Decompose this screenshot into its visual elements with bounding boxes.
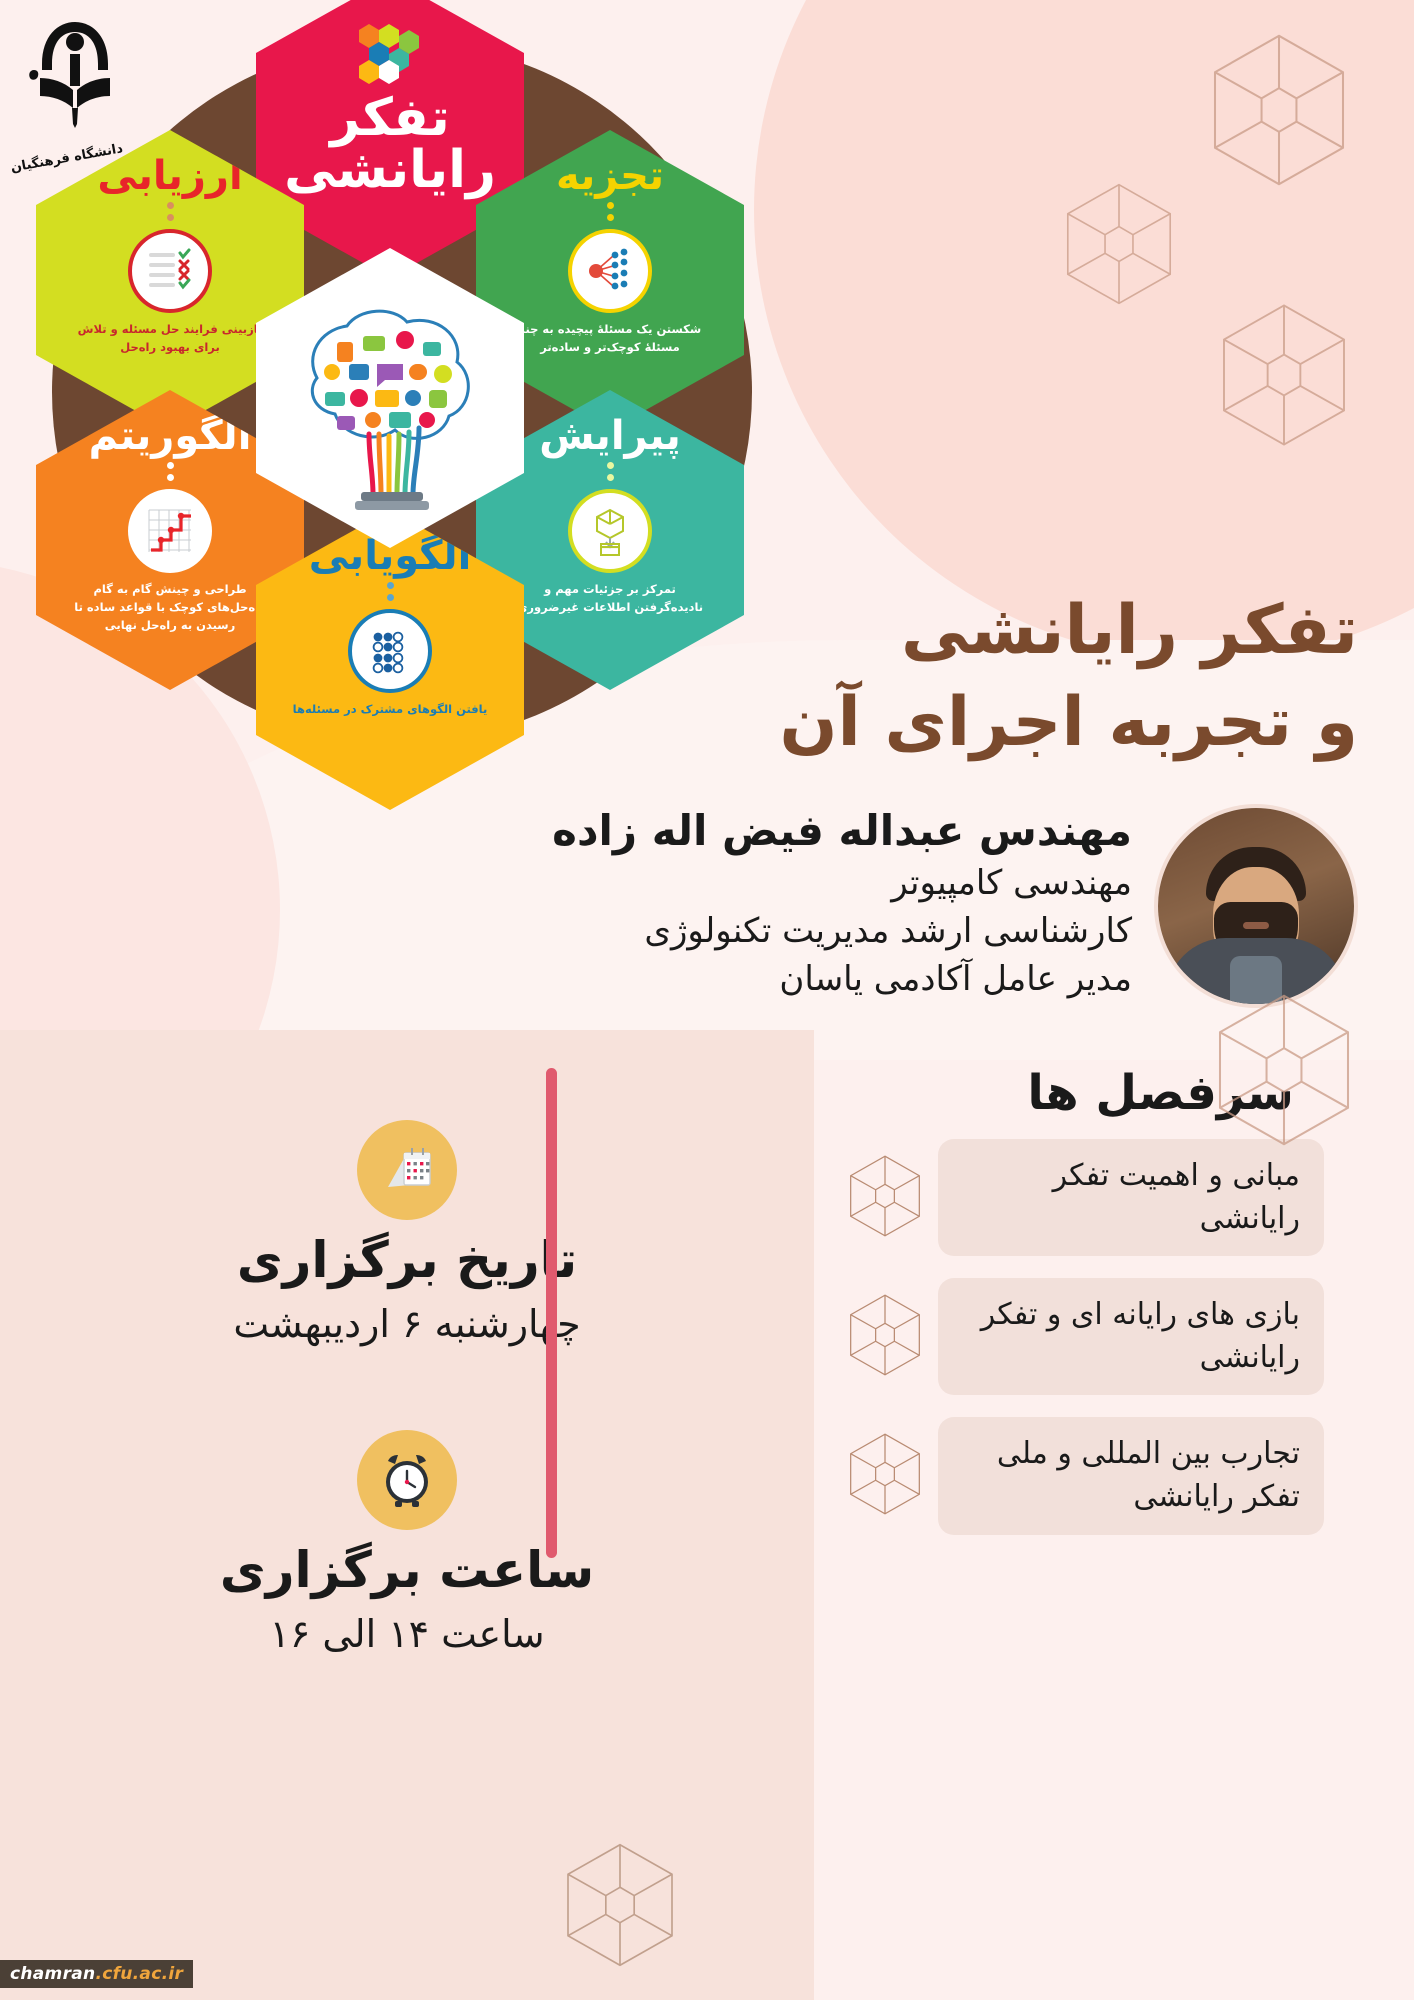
event-time-value: ساعت ۱۴ الی ۱۶ [0, 1610, 814, 1659]
event-time-label: ساعت برگزاری [0, 1540, 814, 1600]
list-item[interactable]: تجارب بین المللی و ملی تفکر رایانشی [844, 1417, 1324, 1534]
decorative-wire-hexagon-2 [1060, 180, 1178, 308]
decorative-wire-hexagon-5 [560, 1840, 680, 1970]
connector-dots [167, 202, 174, 221]
decorative-wire-hexagon-4 [1209, 990, 1359, 1150]
pattern-dots-icon [348, 609, 432, 693]
section-divider [546, 1068, 557, 1558]
topic-label: بازی های رایانه ای و تفکر رایانشی [938, 1278, 1324, 1395]
alarm-clock-icon [357, 1430, 457, 1530]
connector-dots [607, 462, 614, 481]
hexagon-title: پیرایش [539, 416, 681, 456]
network-nodes-icon [568, 229, 652, 313]
speaker-details: مهندس عبداله فیض اله زاده مهندسی کامپیوت… [552, 800, 1132, 1003]
page-title-line-1: تفکر رایانشی [638, 585, 1358, 677]
brain-tree-icon [275, 298, 505, 528]
hex-outline-icon [844, 1292, 924, 1382]
event-time-block: ساعت برگزاری ساعت ۱۴ الی ۱۶ [0, 1430, 814, 1659]
hexagon-description: طراحی و چینش گام به گام راه‌حل‌های کوچک … [70, 581, 270, 634]
avatar-mouth [1243, 922, 1269, 929]
hexagon-description: بازبینی فرایند حل مسئله و تلاش برای بهبو… [70, 321, 270, 357]
connector-dots [387, 582, 394, 601]
topic-label: مبانی و اهمیت تفکر رایانشی [938, 1139, 1324, 1256]
event-date-value: چهارشنبه ۶ اردیبهشت [0, 1300, 814, 1349]
speaker-credential-2: کارشناسی ارشد مدیریت تکنولوژی [552, 907, 1132, 955]
page-title-line-2: و تجربه اجرای آن [638, 677, 1358, 769]
hex-outline-icon [844, 1153, 924, 1243]
hexagon-title: تفکر رایانشی [256, 92, 524, 196]
watermark-prefix: chamran [10, 1964, 95, 1984]
speaker-section: مهندس عبداله فیض اله زاده مهندسی کامپیوت… [254, 800, 1354, 1004]
site-watermark[interactable]: chamran.cfu.ac.ir [0, 1960, 193, 1988]
hexagon-title: الگوریتم [89, 416, 252, 456]
avatar [1158, 808, 1354, 1004]
page-title: تفکر رایانشی و تجربه اجرای آن [638, 585, 1358, 769]
speaker-credential-1: مهندسی کامپیوتر [552, 859, 1132, 907]
checklist-icon [128, 229, 212, 313]
event-details-panel: تاریخ برگزاری چهارشنبه ۶ اردیبهشت [0, 1030, 814, 2000]
cube-abstraction-icon [568, 489, 652, 573]
event-date-block: تاریخ برگزاری چهارشنبه ۶ اردیبهشت [0, 1120, 814, 1349]
hexagon-title: ارزیابی [97, 156, 242, 196]
connector-dots [167, 462, 174, 481]
decorative-wire-hexagon-3 [1214, 300, 1354, 450]
hexagon-title: تجزیه [556, 156, 664, 196]
decorative-wire-hexagon-1 [1204, 30, 1354, 190]
event-date-label: تاریخ برگزاری [0, 1230, 814, 1290]
staircase-chart-icon [128, 489, 212, 573]
molecule-hex-cluster-icon [355, 22, 425, 88]
hexagon-description: شکستن یک مسئلهٔ پیچیده به چند مسئلهٔ کوچ… [510, 321, 710, 357]
speaker-name: مهندس عبداله فیض اله زاده [552, 804, 1132, 859]
speaker-credential-3: مدیر عامل آکادمی یاسان [552, 955, 1132, 1003]
calendar-icon [357, 1120, 457, 1220]
watermark-domain: .cfu.ac.ir [95, 1964, 183, 1984]
hexagon-description: یافتن الگوهای مشترک در مسئله‌ها [290, 701, 490, 719]
list-item[interactable]: بازی های رایانه ای و تفکر رایانشی [844, 1278, 1324, 1395]
topic-label: تجارب بین المللی و ملی تفکر رایانشی [938, 1417, 1324, 1534]
hex-outline-icon [844, 1431, 924, 1521]
list-item[interactable]: مبانی و اهمیت تفکر رایانشی [844, 1139, 1324, 1256]
connector-dots [607, 202, 614, 221]
